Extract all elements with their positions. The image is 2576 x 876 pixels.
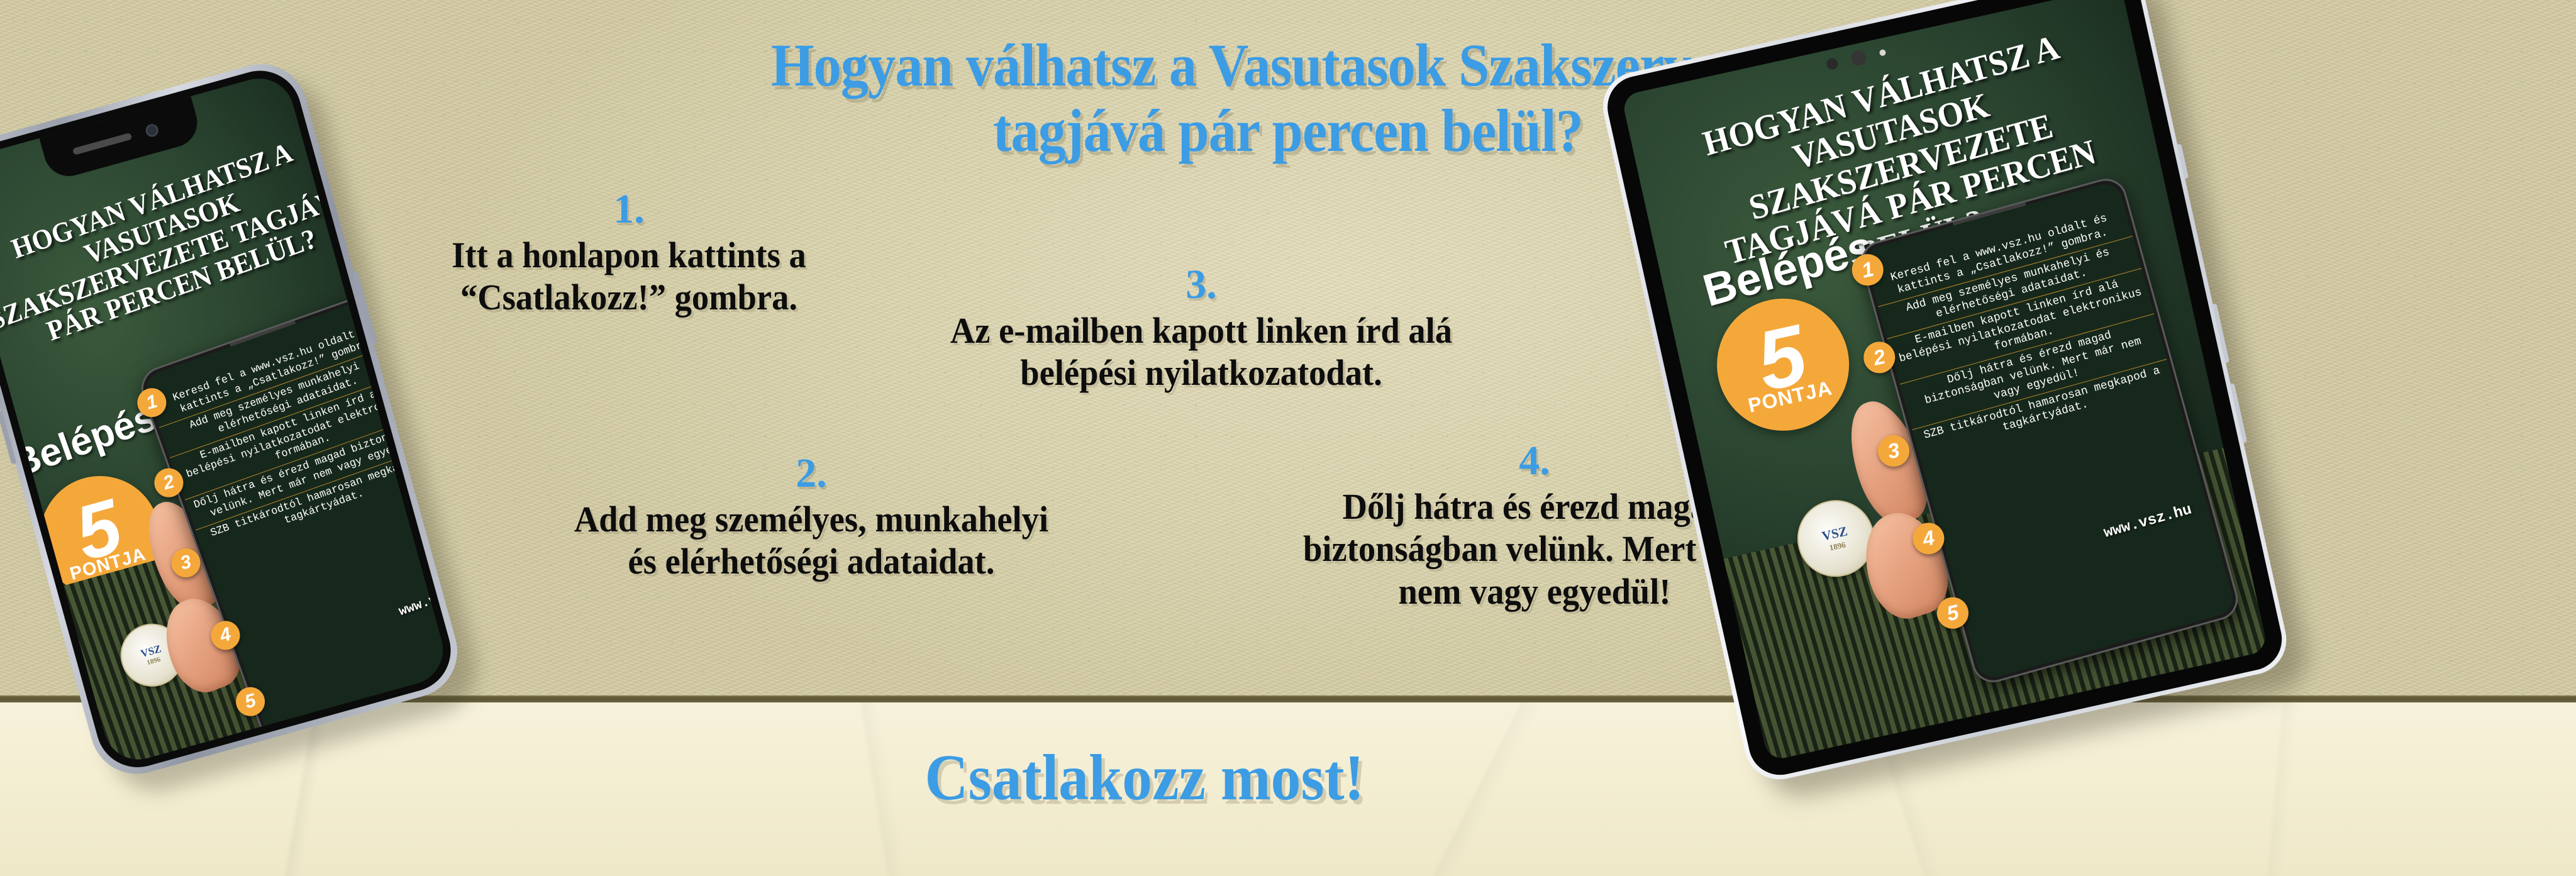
step-2: 2. Add meg személyes, munkahelyi és elér… — [547, 453, 1075, 583]
step-3-number: 3. — [924, 264, 1478, 306]
step-1-number: 1. — [333, 189, 924, 230]
step-3: 3. Az e-mailben kapott linken írd alá be… — [924, 264, 1478, 394]
banner-stage: HOGYAN VÁLHATSZ A VASUTASOK SZAKSZERVEZE… — [0, 0, 2576, 876]
camera-sensor-icon — [1879, 49, 1887, 57]
step-1-text: Itt a honlapon kattints a “Csatlakozz!” … — [351, 234, 907, 319]
poster-steplist: Keresd fel a www.vsz.hu oldalt és kattin… — [1869, 204, 2175, 461]
step-3-text: Az e-mailben kapott linken írd alá belép… — [941, 309, 1461, 394]
camera-lens-icon — [1826, 57, 1839, 70]
step-2-number: 2. — [547, 453, 1075, 494]
earpiece-speaker — [72, 133, 132, 155]
step-1: 1. Itt a honlapon kattints a “Csatlakozz… — [333, 189, 924, 319]
step-2-text: Add meg személyes, munkahelyi és elérhet… — [563, 498, 1060, 583]
poster-url: www.vsz.hu — [2102, 501, 2194, 542]
front-camera-icon — [144, 123, 160, 138]
camera-lens-icon — [1850, 49, 1868, 67]
cta-text[interactable]: Csatlakozz most! — [838, 745, 1451, 811]
